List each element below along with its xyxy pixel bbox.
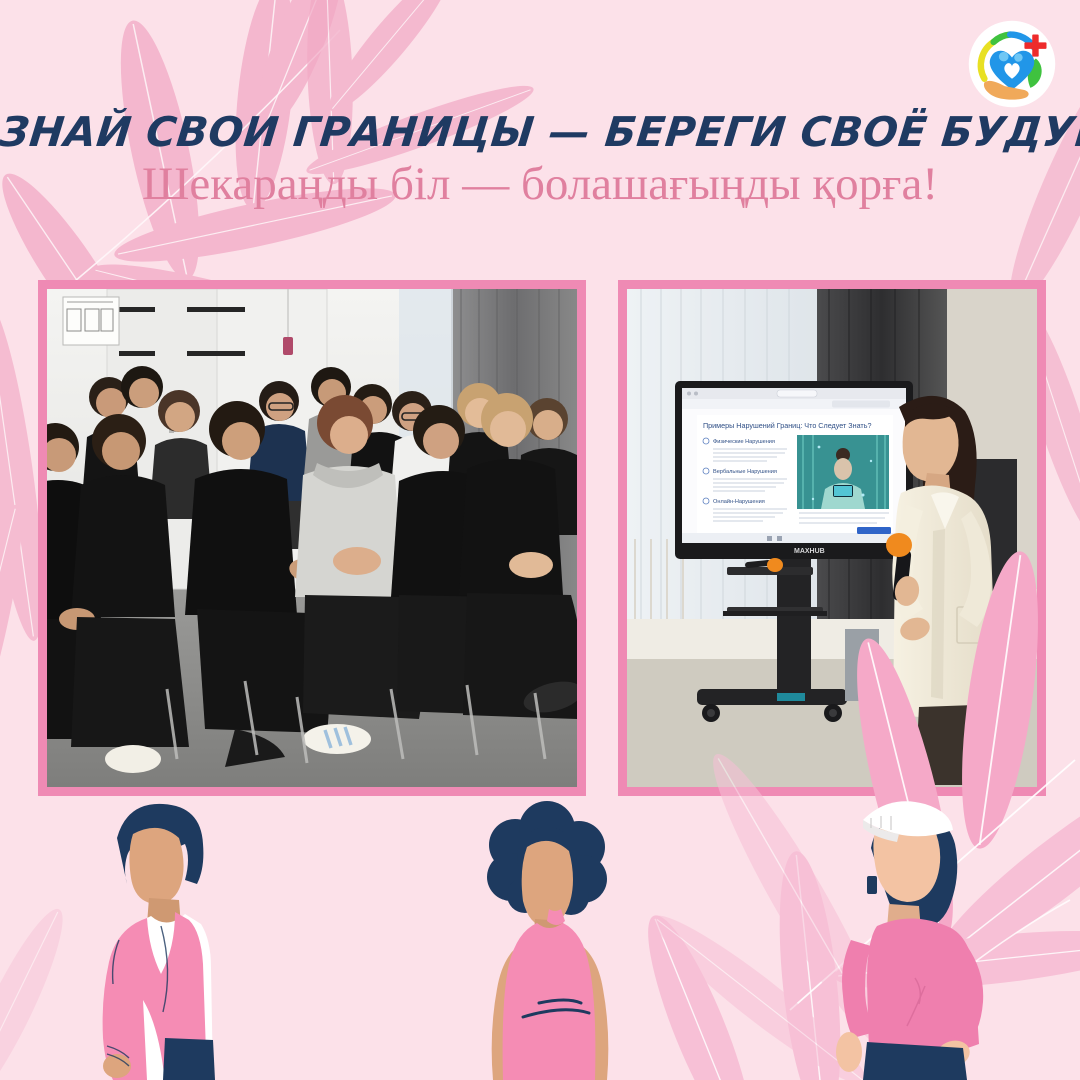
display-screen: Примеры Нарушений Границ: Что Следует Зн…	[675, 381, 913, 559]
face	[522, 841, 573, 927]
figure-woman-dress	[455, 795, 645, 1080]
screen-brand: MAXHUB	[794, 548, 825, 555]
title-russian: ЗНАЙ СВОИ ГРАНИЦЫ — БЕРЕГИ СВОЁ БУДУЩЕЕ!	[0, 112, 1080, 153]
hand-left	[836, 1032, 862, 1072]
photo-speaker: Примеры Нарушений Границ: Что Следует Зн…	[618, 280, 1046, 796]
pants	[863, 1042, 967, 1080]
photo-audience	[38, 280, 586, 796]
face	[129, 828, 183, 904]
family-health-logo	[966, 18, 1058, 110]
title-block: ЗНАЙ СВОИ ГРАНИЦЫ — БЕРЕГИ СВОЁ БУДУЩЕЕ!…	[0, 112, 1080, 211]
slide-bullet-3: Онлайн-Нарушения	[713, 498, 765, 505]
evacuation-plan	[63, 297, 119, 345]
sneaker	[303, 724, 371, 754]
poster-canvas: ЗНАЙ СВОИ ГРАНИЦЫ — БЕРЕГИ СВОЁ БУДУЩЕЕ!…	[0, 0, 1080, 1080]
logo-figure-adult	[999, 52, 1009, 62]
slide-bullet-1: Физические Нарушения	[713, 439, 775, 445]
figure-woman-blazer	[55, 790, 270, 1080]
figure-woman-cap	[805, 790, 1020, 1080]
slide-title: Примеры Нарушений Границ: Что Следует Зн…	[703, 421, 871, 430]
slide-bullet-2: Вербальные Нарушения	[713, 469, 777, 475]
title-kazakh: Шекараңды біл — болашағыңды қорға!	[0, 157, 1080, 211]
slide-illustration	[797, 435, 889, 509]
pants	[163, 1038, 215, 1080]
logo-figure-child	[1014, 53, 1022, 61]
earring	[867, 876, 877, 894]
